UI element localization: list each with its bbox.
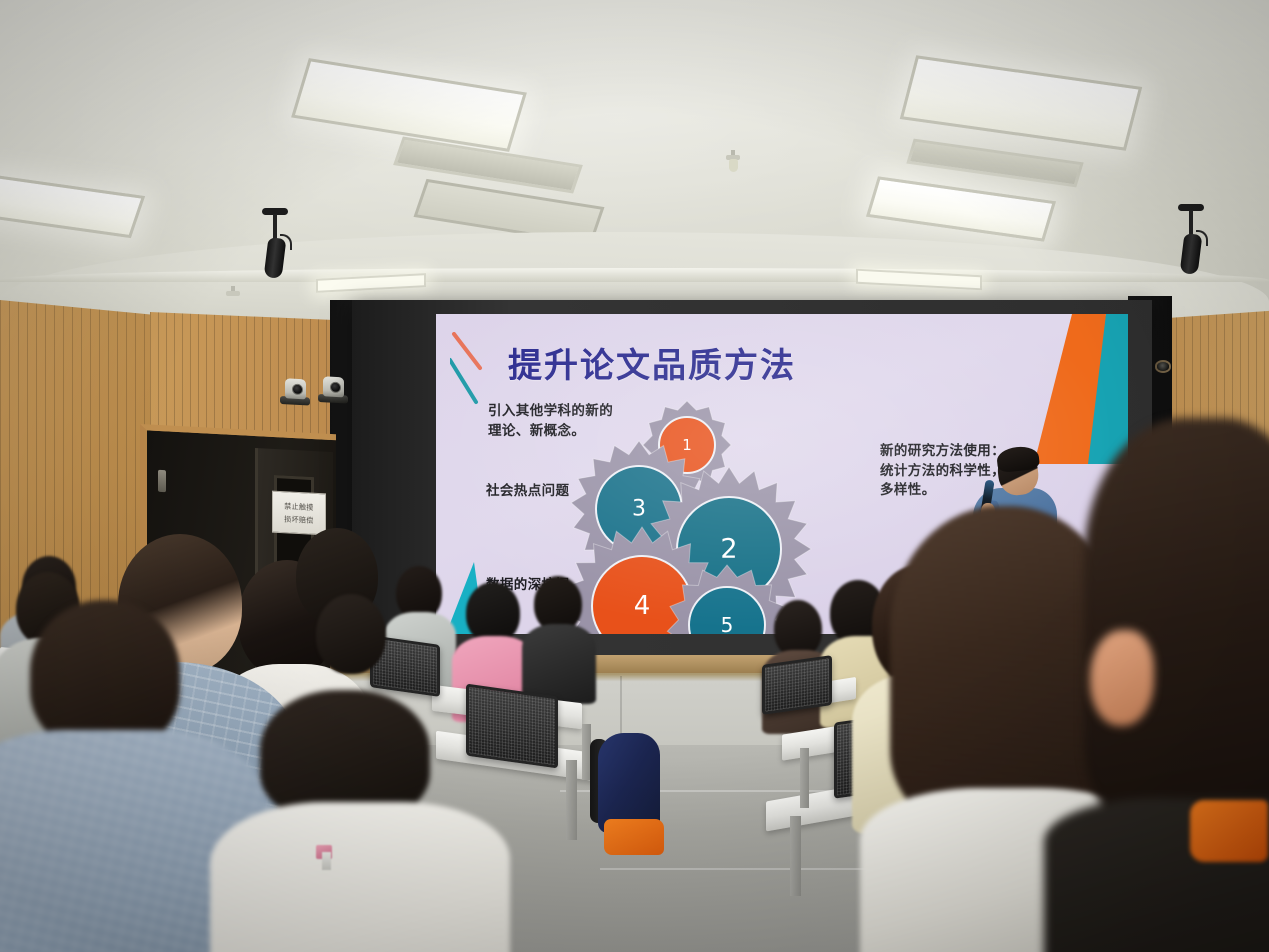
backpack — [598, 733, 664, 855]
slide-note-mid-left: 社会热点问题 — [486, 482, 569, 502]
gear-number-label: 2 — [720, 534, 737, 565]
audience-head — [260, 690, 430, 820]
chair-back — [762, 655, 832, 715]
sprinkler-bulb — [729, 159, 738, 172]
gear-number-label: 4 — [634, 591, 651, 621]
camera-lens-icon — [292, 384, 303, 396]
lecture-hall-scene: 禁止触摸 损坏赔偿 提升论文品质 — [0, 0, 1269, 952]
audience-head — [466, 582, 520, 644]
desk-leg — [800, 748, 809, 808]
audience-head — [30, 600, 180, 750]
door-sign-line-2: 损坏赔偿 — [284, 514, 314, 526]
audience-head — [1084, 418, 1269, 838]
desk-paper — [322, 852, 331, 870]
mount-rod — [273, 214, 277, 240]
gear-shape: 5 — [666, 564, 788, 634]
backpack-front-pocket — [604, 819, 664, 855]
gear-number-label: 5 — [721, 613, 734, 634]
desk-leg — [566, 760, 577, 840]
door-sign-line-1: 禁止触摸 — [284, 501, 314, 513]
camera-lens-icon — [330, 382, 341, 394]
side-bag — [1190, 800, 1268, 862]
slide-accent-lines — [450, 332, 496, 412]
mount-rod — [1189, 210, 1193, 236]
wall-camera-icon — [1155, 360, 1171, 373]
slide-note-top-left: 引入其他学科的新的 理论、新概念。 — [488, 402, 613, 441]
foreground-ear — [1090, 630, 1154, 726]
slide-corner-decoration-top-right — [998, 314, 1128, 464]
audience-body — [210, 802, 510, 952]
door-warning-sign: 禁止触摸 损坏赔偿 — [272, 491, 326, 536]
chair-back — [466, 684, 558, 769]
gear-number-label: 3 — [632, 497, 646, 522]
slide-title: 提升论文品质方法 — [508, 338, 796, 387]
sprinkler-cap — [226, 291, 240, 296]
audience-head — [316, 594, 386, 674]
gear-5: 5 — [666, 564, 788, 634]
backpack-body — [598, 733, 660, 833]
desk-leg — [790, 816, 801, 896]
door-handle[interactable] — [158, 470, 166, 492]
